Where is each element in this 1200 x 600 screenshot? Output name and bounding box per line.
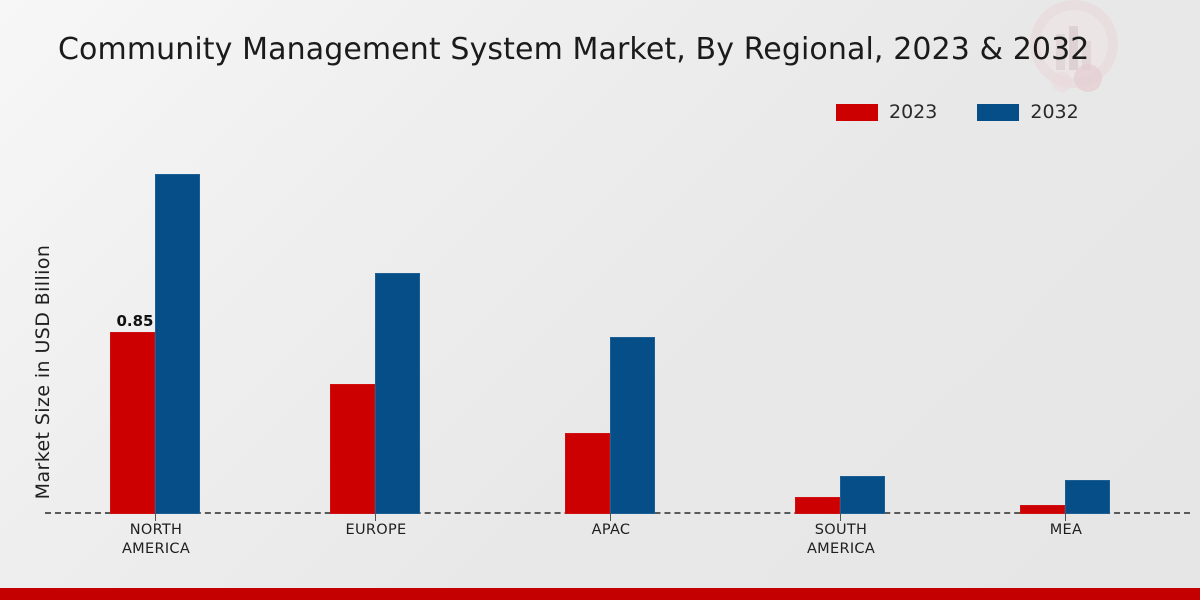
chart-container: Community Management System Market, By R… [0,0,1200,600]
x-axis-label-mea: MEA [976,521,1156,540]
bar-group-mea: MEA [1020,140,1112,514]
x-axis-label-line-2: AMERICA [122,541,190,557]
x-axis-tick [610,514,611,521]
bar-value-2023-north-america: 0.85 [109,312,161,330]
legend-item-2023[interactable]: 2023 [836,103,937,122]
chart-legend: 2023 2032 [836,103,1079,122]
x-axis-label-north-america: NORTH AMERICA [66,521,246,559]
x-axis-label-europe: EUROPE [286,521,466,540]
bar-group-south-america: SOUTH AMERICA [795,140,887,514]
x-axis-label-line-1: NORTH [130,522,183,538]
footer-accent-bar [0,588,1200,600]
x-axis-label-line-1: APAC [592,522,631,538]
bar-2032-south-america [840,476,885,514]
x-axis-tick [1065,514,1066,521]
x-axis-tick [155,514,156,521]
x-axis-tick [840,514,841,521]
bar-2032-north-america [155,174,200,514]
bar-group-north-america: 0.85 NORTH AMERICA [110,140,202,514]
x-axis-label-line-1: SOUTH [815,522,868,538]
x-axis-label-apac: APAC [521,521,701,540]
legend-item-2032[interactable]: 2032 [977,103,1078,122]
legend-label-2023: 2023 [889,103,937,122]
bar-2032-europe [375,273,420,514]
plot-area: 0.85 NORTH AMERICA EUROPE APAC [45,140,1190,514]
x-axis-label-line-2: AMERICA [807,541,875,557]
x-axis-label-line-1: EUROPE [346,522,407,538]
chart-title: Community Management System Market, By R… [58,32,1089,67]
bar-2023-europe [330,384,375,514]
bar-2032-apac [610,337,655,514]
x-axis-label-south-america: SOUTH AMERICA [751,521,931,559]
legend-label-2032: 2032 [1030,103,1078,122]
bar-2032-mea [1065,480,1110,514]
bar-2023-south-america [795,497,840,514]
x-axis-label-line-1: MEA [1050,522,1083,538]
bar-2023-apac [565,433,610,514]
legend-swatch-blue-icon [977,104,1019,121]
bar-2023-north-america: 0.85 [110,332,155,514]
bar-group-apac: APAC [565,140,657,514]
x-axis-tick [375,514,376,521]
bar-2023-mea [1020,505,1065,514]
bar-group-europe: EUROPE [330,140,422,514]
legend-swatch-red-icon [836,104,878,121]
